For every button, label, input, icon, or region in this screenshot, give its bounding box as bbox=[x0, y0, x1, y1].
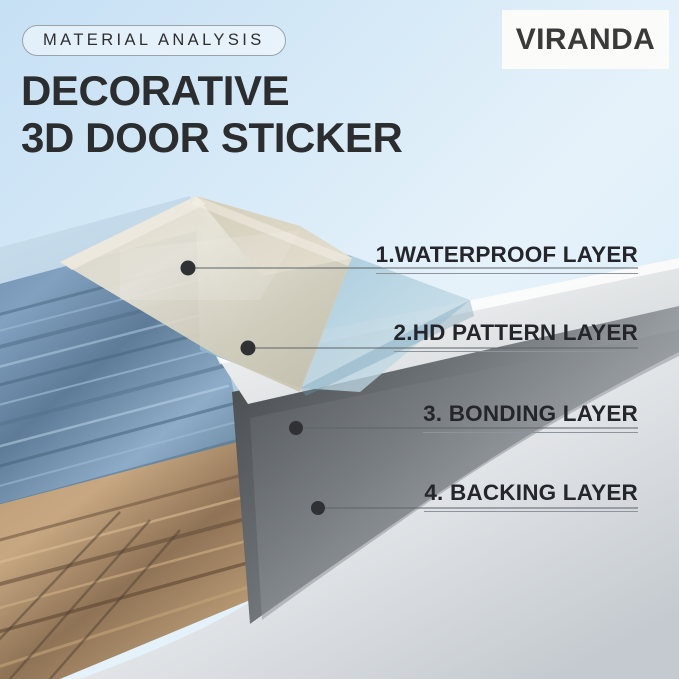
callout-label-1: 1.WATERPROOF LAYER bbox=[376, 242, 638, 274]
page-title: DECORATIVE 3D DOOR STICKER bbox=[21, 67, 402, 161]
page-title-line-1: DECORATIVE bbox=[21, 67, 289, 114]
callout-label-4-text: 4. BACKING LAYER bbox=[424, 480, 638, 511]
brand-logo: VIRANDA bbox=[502, 10, 669, 69]
callout-rule-3 bbox=[423, 432, 638, 433]
callout-rule-4 bbox=[424, 511, 638, 512]
badge-label: MATERIAL ANALYSIS bbox=[43, 31, 265, 50]
marker-dot-4 bbox=[311, 501, 325, 515]
callout-label-4: 4. BACKING LAYER bbox=[424, 480, 638, 512]
material-analysis-badge: MATERIAL ANALYSIS bbox=[22, 25, 286, 56]
marker-dot-3 bbox=[289, 421, 303, 435]
callout-rule-1 bbox=[376, 273, 638, 274]
marker-dot-1 bbox=[181, 261, 196, 276]
callout-label-3-text: 3. BONDING LAYER bbox=[423, 401, 638, 432]
callout-label-1-text: 1.WATERPROOF LAYER bbox=[376, 242, 638, 273]
marker-dot-2 bbox=[241, 341, 256, 356]
callout-label-2-text: 2.HD PATTERN LAYER bbox=[394, 320, 638, 351]
brand-name: VIRANDA bbox=[516, 23, 655, 57]
page-title-line-2: 3D DOOR STICKER bbox=[21, 114, 402, 161]
callout-rule-2 bbox=[394, 351, 638, 352]
callout-label-2: 2.HD PATTERN LAYER bbox=[394, 320, 638, 352]
callout-label-3: 3. BONDING LAYER bbox=[423, 401, 638, 433]
infographic-page: MATERIAL ANALYSIS DECORATIVE 3D DOOR STI… bbox=[0, 0, 679, 679]
